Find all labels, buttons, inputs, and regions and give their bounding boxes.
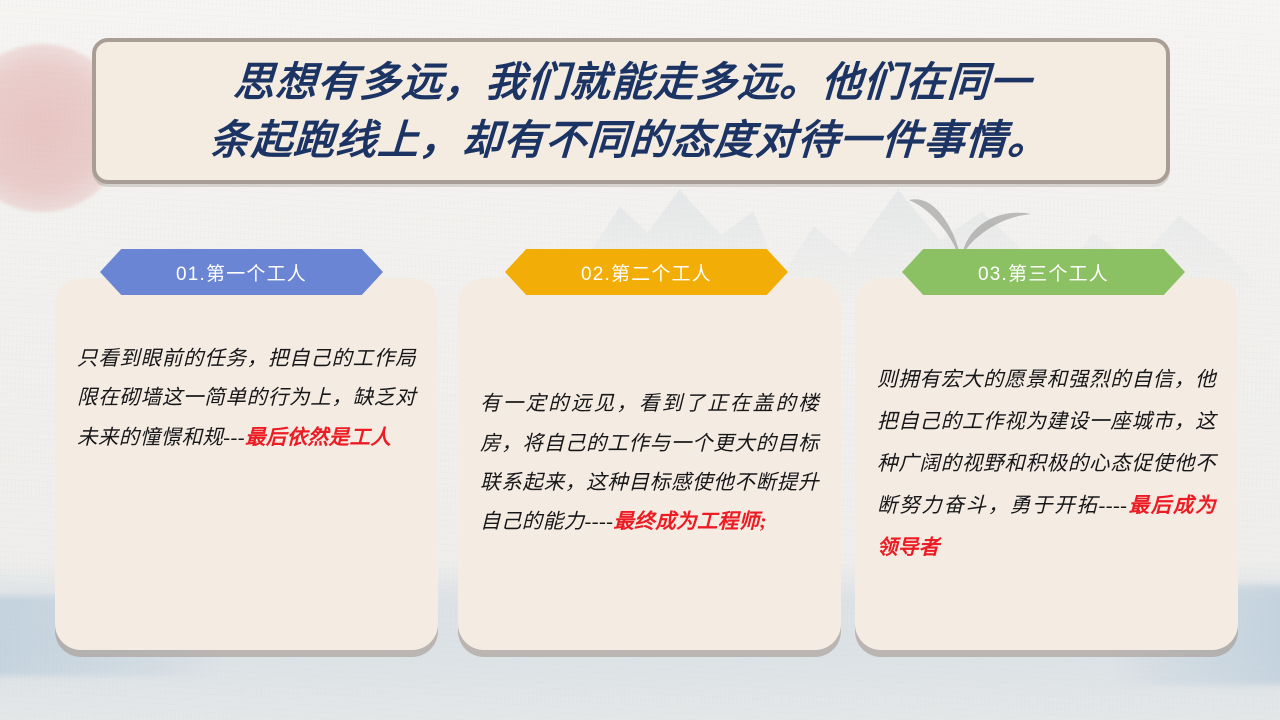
page-title: 思想有多远，我们就能走多远。他们在同一 条起跑线上，却有不同的态度对待一件事情。: [190, 53, 1072, 169]
card-inner-1: 只看到眼前的任务，把自己的工作局限在砌墙这一简单的行为上，缺乏对未来的憧憬和规-…: [55, 278, 438, 650]
column-banner-3[interactable]: 03.第三个工人: [902, 249, 1185, 295]
card-body-1-highlight: 最后依然是工人: [245, 427, 391, 449]
column-banner-2-label: 02.第二个工人: [581, 259, 712, 286]
card-body-3: 则拥有宏大的愿景和强烈的自信，他把自己的工作视为建设一座城市，这种广阔的视野和积…: [877, 359, 1216, 569]
slide-title-box: 思想有多远，我们就能走多远。他们在同一 条起跑线上，却有不同的态度对待一件事情。: [92, 38, 1170, 184]
card-body-2-highlight: 最终成为工程师;: [613, 511, 767, 533]
slide-canvas: 思想有多远，我们就能走多远。他们在同一 条起跑线上，却有不同的态度对待一件事情。…: [0, 0, 1280, 720]
card-inner-2: 有一定的远见，看到了正在盖的楼房，将自己的工作与一个更大的目标联系起来，这种目标…: [458, 278, 841, 650]
card-body-2: 有一定的远见，看到了正在盖的楼房，将自己的工作与一个更大的目标联系起来，这种目标…: [480, 385, 819, 542]
content-card-3: 则拥有宏大的愿景和强烈的自信，他把自己的工作视为建设一座城市，这种广阔的视野和积…: [855, 278, 1238, 650]
title-line-1: 思想有多远，我们就能走多远。他们在同一: [211, 53, 1054, 111]
card-inner-3: 则拥有宏大的愿景和强烈的自信，他把自己的工作视为建设一座城市，这种广阔的视野和积…: [855, 278, 1238, 650]
column-banner-1-label: 01.第一个工人: [176, 259, 307, 286]
column-banner-3-label: 03.第三个工人: [978, 259, 1109, 286]
card-body-1: 只看到眼前的任务，把自己的工作局限在砌墙这一简单的行为上，缺乏对未来的憧憬和规-…: [77, 340, 416, 458]
title-line-2: 条起跑线上，却有不同的态度对待一件事情。: [208, 111, 1051, 169]
column-banner-2[interactable]: 02.第二个工人: [505, 249, 788, 295]
content-card-1: 只看到眼前的任务，把自己的工作局限在砌墙这一简单的行为上，缺乏对未来的憧憬和规-…: [55, 278, 438, 650]
column-banner-1[interactable]: 01.第一个工人: [100, 249, 383, 295]
content-card-2: 有一定的远见，看到了正在盖的楼房，将自己的工作与一个更大的目标联系起来，这种目标…: [458, 278, 841, 650]
